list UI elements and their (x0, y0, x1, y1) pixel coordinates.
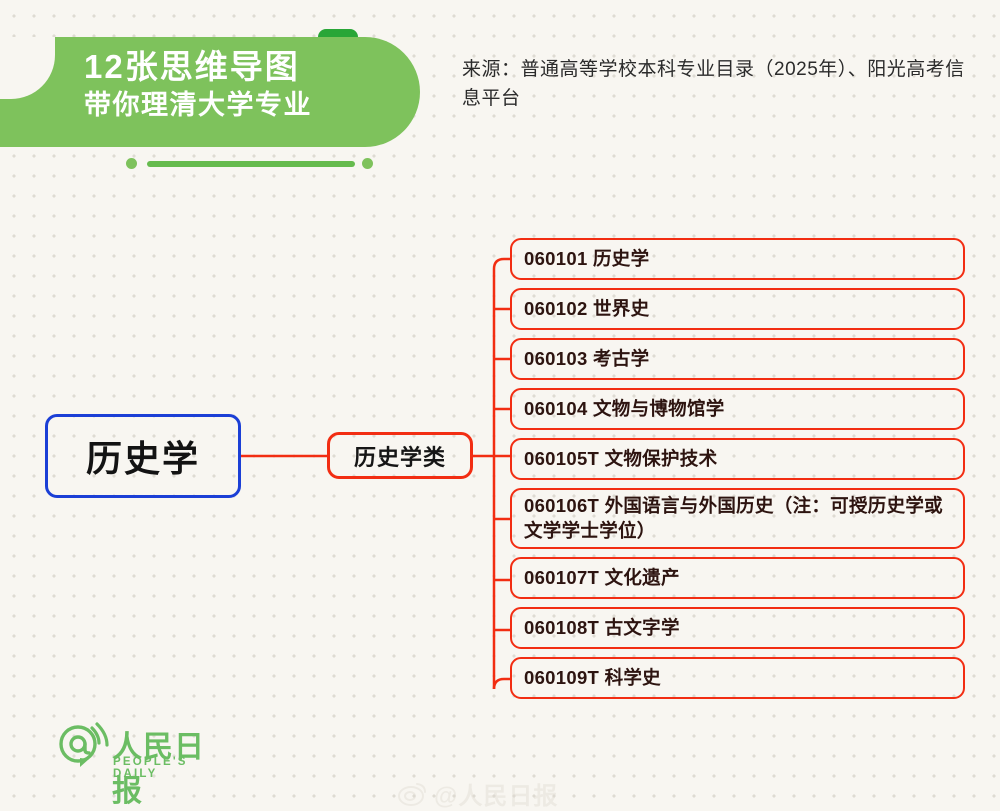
mindmap: 历史学 历史学类 060101 历史学 060102 世界史 060103 考古… (0, 0, 1000, 809)
mindmap-leaf[interactable]: 060107T 文化遗产 (510, 557, 965, 599)
mindmap-leaf-label: 060109T 科学史 (524, 666, 661, 691)
watermark-text: @人民日报 (434, 776, 558, 811)
mindmap-leaf-label: 060102 世界史 (524, 297, 649, 322)
logo-english-name: PEOPLE'S DAILY (113, 756, 231, 780)
mindmap-leaf[interactable]: 060106T 外国语言与外国历史（注：可授历史学或文学学士学位） (510, 488, 965, 549)
at-sign-icon (56, 722, 110, 770)
page-canvas: 12张思维导图 带你理清大学专业 来源：普通高等学校本科专业目录（2025年）、… (0, 0, 1000, 809)
mindmap-leaf-label: 060103 考古学 (524, 347, 649, 372)
mindmap-leaf-label: 060108T 古文字学 (524, 616, 680, 641)
mindmap-leaf[interactable]: 060109T 科学史 (510, 657, 965, 699)
mindmap-leaf[interactable]: 060103 考古学 (510, 338, 965, 380)
mindmap-leaf-label: 060106T 外国语言与外国历史（注：可授历史学或文学学士学位） (524, 494, 951, 544)
weibo-watermark: @人民日报 (398, 776, 558, 811)
peoples-daily-logo: 人民日报 PEOPLE'S DAILY (56, 720, 231, 776)
mindmap-leaf[interactable]: 060108T 古文字学 (510, 607, 965, 649)
mindmap-root-label: 历史学 (86, 430, 200, 482)
mindmap-leaf-label: 060101 历史学 (524, 247, 649, 272)
mindmap-leaf-label: 060107T 文化遗产 (524, 566, 680, 591)
mindmap-leaf-label: 060105T 文物保护技术 (524, 447, 717, 472)
mindmap-root-node[interactable]: 历史学 (45, 414, 241, 498)
mindmap-leaf[interactable]: 060105T 文物保护技术 (510, 438, 965, 480)
mindmap-leaf-label: 060104 文物与博物馆学 (524, 397, 725, 422)
mindmap-leaf[interactable]: 060102 世界史 (510, 288, 965, 330)
mindmap-leaf[interactable]: 060104 文物与博物馆学 (510, 388, 965, 430)
mindmap-leaf[interactable]: 060101 历史学 (510, 238, 965, 280)
mindmap-category-node[interactable]: 历史学类 (327, 432, 473, 479)
mindmap-leaf-list: 060101 历史学 060102 世界史 060103 考古学 060104 … (510, 238, 965, 707)
mindmap-category-label: 历史学类 (354, 440, 446, 472)
weibo-icon (398, 782, 428, 806)
